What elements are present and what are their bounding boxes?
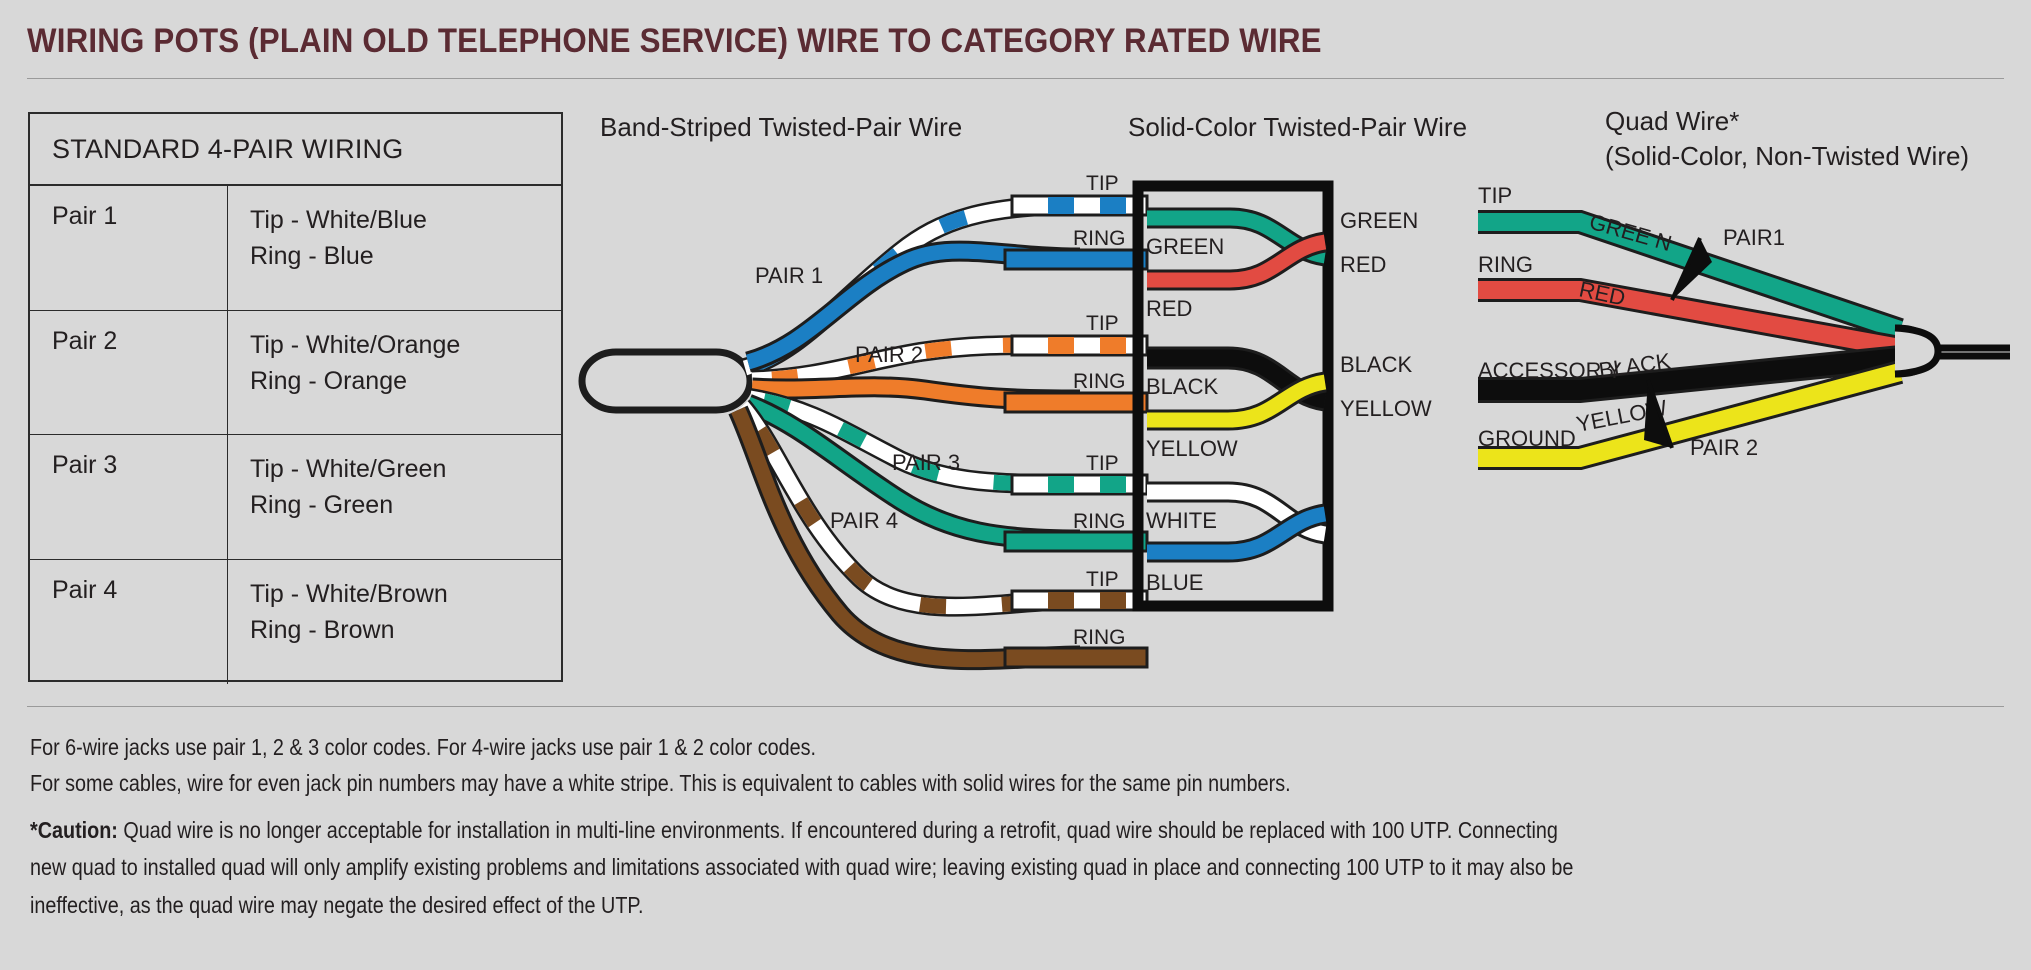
tip-text: Tip - White/Brown [250, 576, 561, 612]
pair1-arrow-head [1672, 238, 1712, 300]
pair-label: Pair 3 [30, 435, 228, 559]
pair4-tip-end [1012, 591, 1147, 610]
pair2-arrow-head [1644, 380, 1672, 448]
pair4-label: PAIR 4 [830, 508, 898, 533]
pair2-tip-label: TIP [1086, 312, 1119, 335]
pair-label: Pair 1 [30, 186, 228, 310]
pair3-tip-label: TIP [1086, 452, 1119, 475]
pair-colors: Tip - White/Orange Ring - Orange [228, 311, 561, 435]
solid-right-label-yellow: YELLOW [1340, 396, 1432, 421]
pair4-ring-wire [738, 410, 1080, 660]
solid-green-outline [1147, 218, 1325, 256]
pair3-tip-end [1012, 475, 1147, 494]
heading-band-striped: Band-Striped Twisted-Pair Wire [600, 110, 962, 145]
page-title: WIRING POTS (PLAIN OLD TELEPHONE SERVICE… [27, 22, 1322, 61]
pair-colors: Tip - White/Green Ring - Green [228, 435, 561, 559]
pair4-tip-band [1100, 592, 1126, 609]
heading-quad-line1: Quad Wire* [1605, 104, 1969, 139]
solid-left-label-black: BLACK [1146, 374, 1218, 399]
pair4-ring-end [1005, 648, 1147, 667]
solid-black-wire [1147, 358, 1325, 400]
band-striped-diagram: TIP RING PAIR 1 TIP RING PAIR 2 TIP RING… [582, 172, 1147, 667]
quad-wire-label-yellow: YELLOW [1574, 395, 1669, 437]
quad-red-wire [1478, 290, 1900, 348]
pair1-label: PAIR 1 [755, 263, 823, 288]
caution-text-1: Quad wire is no longer acceptable for in… [118, 817, 1558, 843]
divider-top [27, 78, 2004, 79]
pair4-tip-band [1048, 592, 1074, 609]
solid-right-label-green: GREEN [1340, 208, 1418, 233]
solid-color-diagram: GREEN RED GREEN RED BLACK YELLOW BLACK Y… [1138, 186, 1432, 606]
quad-callout-pair1: PAIR1 [1723, 225, 1785, 250]
pair3-tip-band [1048, 476, 1074, 493]
pair3-ring-fill [748, 404, 1080, 540]
pair1-ring-end [1005, 250, 1147, 269]
caution-block: *Caution: Quad wire is no longer accepta… [30, 812, 2031, 924]
table-row: Pair 4 Tip - White/Brown Ring - Brown [30, 560, 561, 685]
quad-yellow-wire [1478, 372, 1900, 458]
note-line-2: For some cables, wire for even jack pin … [30, 770, 1291, 797]
ring-text: Ring - Green [250, 487, 561, 523]
pair4-tip-wire [742, 406, 1080, 607]
caution-line-1: *Caution: Quad wire is no longer accepta… [30, 812, 2025, 849]
pair3-tip-band [1100, 476, 1126, 493]
pair3-ring-wire [748, 404, 1080, 540]
pair2-ring-wire [752, 387, 1080, 400]
pair2-tip-bands [752, 345, 1080, 380]
pair1-tip-fill [745, 205, 1080, 368]
solid-yellow-wire [1147, 382, 1325, 420]
pair3-tip-fill [750, 398, 1080, 484]
quad-yellow-outline [1478, 372, 1900, 458]
pair1-tip-band [1048, 197, 1074, 214]
quad-label-ring: RING [1478, 252, 1533, 277]
quad-wire-label-red: RED [1577, 276, 1628, 310]
tip-text: Tip - White/Orange [250, 327, 561, 363]
ring-text: Ring - Blue [250, 238, 561, 274]
pair3-ring-label: RING [1073, 510, 1126, 533]
pair4-ring-label: RING [1073, 626, 1126, 649]
quad-label-accessory: ACCESSOR Y [1478, 358, 1622, 383]
pair4-ring-fill [738, 410, 1080, 660]
table-header: STANDARD 4-PAIR WIRING [30, 114, 561, 186]
quad-jacket-bottom [1895, 356, 2010, 374]
quad-green-wire [1478, 222, 1900, 330]
pair1-tip-wire [745, 205, 1080, 368]
solid-white-outline [1147, 492, 1325, 534]
pair2-ring-end [1005, 393, 1147, 412]
heading-quad-wire: Quad Wire* (Solid-Color, Non-Twisted Wir… [1605, 104, 1969, 174]
solid-right-label-red: RED [1340, 252, 1386, 277]
pair2-tip-band [1100, 337, 1126, 354]
quad-wire-label-green: GREE N [1587, 209, 1675, 256]
quad-jacket-top [1895, 328, 2010, 348]
pair-label: Pair 4 [30, 560, 228, 685]
quad-jacket-cap [1895, 328, 1938, 374]
standard-4-pair-wiring-table: STANDARD 4-PAIR WIRING Pair 1 Tip - Whit… [28, 112, 563, 682]
pair3-ring-end [1005, 532, 1147, 551]
pair4-tip-fill [742, 406, 1080, 607]
pair2-tip-band [1048, 337, 1074, 354]
pair1-tip-label: TIP [1086, 172, 1119, 195]
pair2-tip-fill [752, 345, 1080, 380]
tip-text: Tip - White/Green [250, 451, 561, 487]
solid-left-label-green: GREEN [1146, 234, 1224, 259]
solid-color-box [1138, 186, 1328, 606]
note-line-1: For 6-wire jacks use pair 1, 2 & 3 color… [30, 734, 816, 761]
quad-label-ground: GROUND [1478, 426, 1576, 451]
table-row: Pair 3 Tip - White/Green Ring - Green [30, 435, 561, 560]
pair3-tip-bands [750, 398, 1080, 484]
table-row: Pair 1 Tip - White/Blue Ring - Blue [30, 186, 561, 311]
caution-label: *Caution: [30, 817, 118, 843]
quad-wire-diagram: TIP RING ACCESSOR Y GROUND GREE N RED BL… [1478, 183, 2010, 460]
pair4-tip-label: TIP [1086, 568, 1119, 591]
caution-line-2: new quad to installed quad will only amp… [30, 849, 2025, 886]
pair1-arrow-line [1672, 238, 1700, 300]
solid-red-wire [1147, 242, 1325, 280]
heading-solid-color: Solid-Color Twisted-Pair Wire [1128, 110, 1467, 145]
solid-blue-outline [1147, 514, 1325, 552]
pair1-tip-bands [745, 205, 1080, 368]
pair1-ring-label: RING [1073, 227, 1126, 250]
caution-line-3: ineffective, as the quad wire may negate… [30, 887, 2025, 924]
quad-wire-label-black: BLACK [1597, 348, 1672, 383]
quad-black-wire [1478, 358, 1900, 390]
quad-green-outline [1478, 222, 1900, 330]
quad-red-outline [1478, 290, 1900, 348]
pair2-label: PAIR 2 [855, 342, 923, 367]
quad-black-outline [1478, 358, 1900, 390]
solid-yellow-outline [1147, 382, 1325, 420]
solid-right-label-black: BLACK [1340, 352, 1412, 377]
pair1-ring-fill [748, 251, 1080, 362]
cable-jacket [582, 352, 750, 410]
pair1-tip-band [1100, 197, 1126, 214]
divider-bottom [27, 706, 2004, 707]
quad-label-tip: TIP [1478, 183, 1512, 208]
solid-black-outline [1147, 358, 1325, 400]
pair1-ring-wire [748, 251, 1080, 362]
pair4-tip-bands [742, 406, 1080, 607]
pair2-ring-fill [752, 387, 1080, 400]
solid-white-wire [1147, 492, 1325, 534]
pair-label: Pair 2 [30, 311, 228, 435]
pair3-label: PAIR 3 [892, 450, 960, 475]
solid-left-label-white: WHITE [1146, 508, 1217, 533]
heading-quad-line2: (Solid-Color, Non-Twisted Wire) [1605, 139, 1969, 174]
pair2-tip-end [1012, 336, 1147, 355]
solid-red-outline [1147, 242, 1325, 280]
ring-text: Ring - Orange [250, 363, 561, 399]
ring-text: Ring - Brown [250, 612, 561, 648]
solid-left-label-blue: BLUE [1146, 570, 1203, 595]
quad-callout-pair2: PAIR 2 [1690, 435, 1758, 460]
table-row: Pair 2 Tip - White/Orange Ring - Orange [30, 311, 561, 436]
solid-blue-wire [1147, 514, 1325, 552]
pair2-arrow-line [1648, 380, 1672, 448]
pair2-tip-wire [752, 345, 1080, 380]
tip-text: Tip - White/Blue [250, 202, 561, 238]
solid-green-wire [1147, 218, 1325, 256]
pair2-ring-label: RING [1073, 370, 1126, 393]
pair-colors: Tip - White/Brown Ring - Brown [228, 560, 561, 685]
solid-left-label-red: RED [1146, 296, 1192, 321]
solid-left-label-yellow: YELLOW [1146, 436, 1238, 461]
pair1-tip-end [1012, 196, 1147, 215]
pair3-tip-wire [750, 398, 1080, 484]
pair-colors: Tip - White/Blue Ring - Blue [228, 186, 561, 310]
